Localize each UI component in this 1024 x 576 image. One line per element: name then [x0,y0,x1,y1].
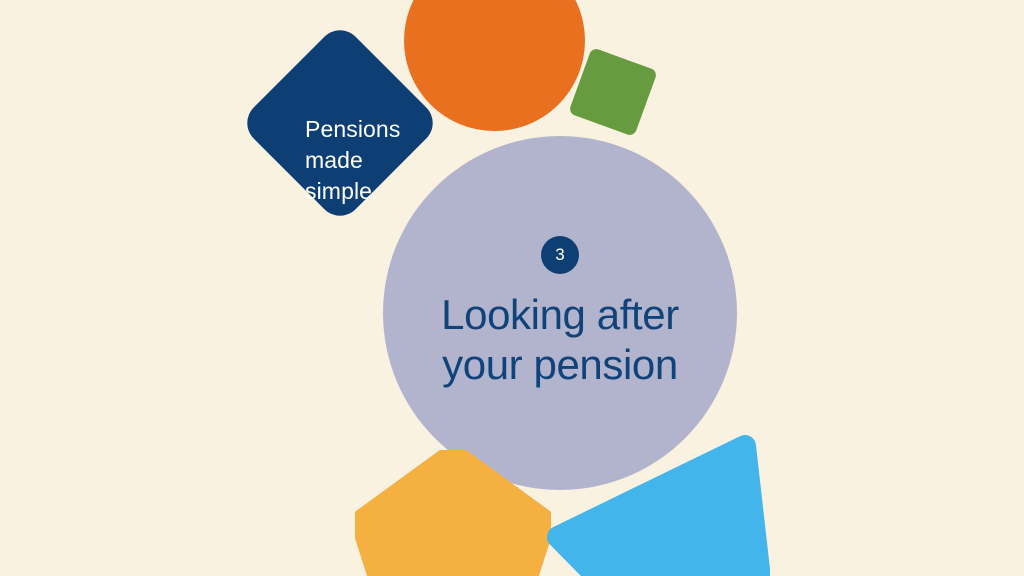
presentation-slide: Pensions made simple. 3 Looking after yo… [0,0,1024,576]
slide-content: 3 Looking after your pension [383,136,737,490]
section-number-badge: 3 [541,236,579,274]
page-title: Looking after your pension [441,290,679,390]
orange-circle-decoration [404,0,585,131]
